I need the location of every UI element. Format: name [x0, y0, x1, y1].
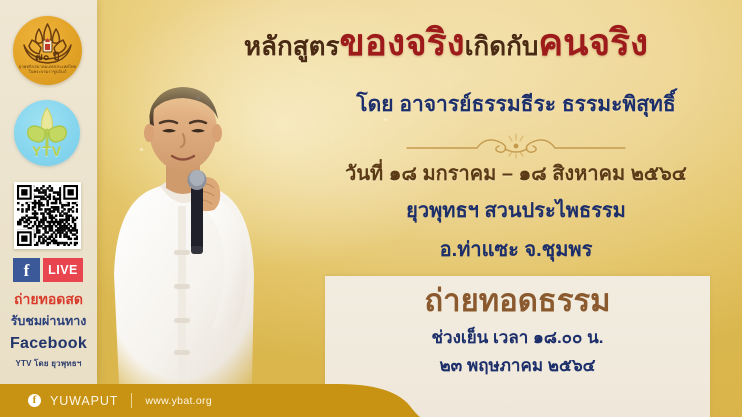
anniversary-years: ๗๐ ปี — [13, 53, 82, 63]
footer-content: f YUWAPUT www.ybat.org — [0, 384, 300, 417]
sidebar-text-watch-via: รับชมผ่านทาง — [0, 315, 97, 328]
broadcast-time: ช่วงเย็น เวลา ๑๘.๐๐ น. — [325, 329, 710, 346]
footer-page-name[interactable]: YUWAPUT — [50, 394, 118, 408]
broadcast-heading: ถ่ายทอดธรรม — [325, 285, 710, 316]
anniversary-subtitle: ยุวพุทธิกสมาคมแห่งประเทศไทย ในพระบรมราชู… — [13, 64, 82, 75]
broadcast-date: ๒๓ พฤษภาคม ๒๕๖๔ — [325, 357, 710, 374]
page-title: หลักสูตรของจริงเกิดกับคนจริง — [150, 24, 742, 61]
sidebar-text-channel: YTV โดย ยุวพุทธฯ — [0, 360, 97, 368]
title-part-2: ของจริง — [339, 22, 464, 63]
emblem-icon — [43, 38, 52, 52]
course-dateline: วันที่ ๑๘ มกราคม – ๑๘ สิงหาคม ๒๕๖๔ — [290, 164, 742, 184]
lotus-icon — [13, 16, 82, 85]
speaker-byline: โดย อาจารย์ธรรมธีระ ธรรมะพิสุทธิ์ — [290, 94, 742, 115]
facebook-live-badge[interactable]: f LIVE — [13, 258, 83, 282]
left-sidebar: ๗๐ ปี ยุวพุทธิกสมาคมแห่งประเทศไทย ในพระบ… — [0, 0, 97, 384]
live-label: LIVE — [43, 258, 83, 282]
qr-code[interactable] — [14, 182, 81, 249]
venue-line-2: อ.ท่าแซะ จ.ชุมพร — [290, 240, 742, 260]
footer-bar: f YUWAPUT www.ybat.org — [0, 384, 742, 417]
ytv-label: YTV — [14, 143, 80, 159]
ytv-logo: YTV — [14, 100, 80, 166]
title-part-3: เกิดกับ — [465, 31, 539, 61]
title-part-1: หลักสูตร — [244, 31, 340, 61]
facebook-icon: f — [13, 258, 40, 282]
facebook-icon: f — [28, 394, 41, 407]
footer-url[interactable]: www.ybat.org — [145, 395, 212, 407]
sidebar-text-live: ถ่ายทอดสด — [0, 292, 97, 306]
footer-divider — [131, 393, 132, 408]
anniversary-logo: ๗๐ ปี ยุวพุทธิกสมาคมแห่งประเทศไทย ในพระบ… — [13, 16, 82, 85]
venue-line-1: ยุวพุทธฯ สวนประไพธรรม — [290, 201, 742, 221]
poster-canvas: หลักสูตรของจริงเกิดกับคนจริง โดย อาจารย์… — [0, 0, 742, 417]
title-part-4: คนจริง — [538, 22, 648, 63]
sidebar-text-facebook: Facebook — [0, 336, 97, 352]
ornament-divider — [405, 133, 627, 159]
